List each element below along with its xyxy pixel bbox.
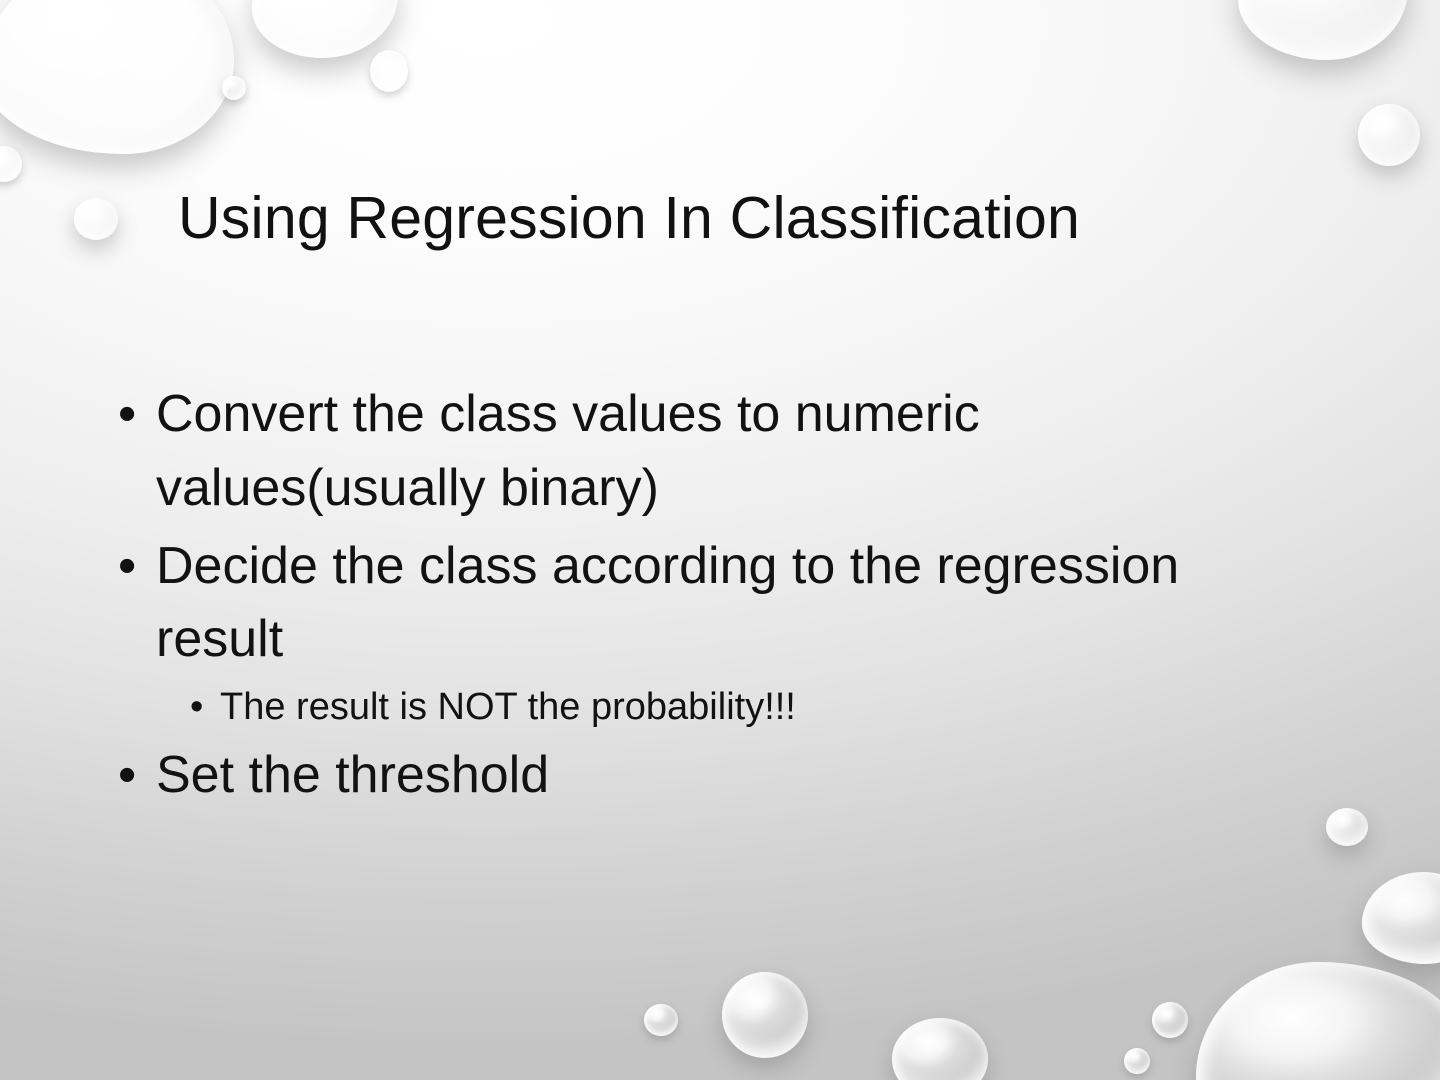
water-droplet-bottom-tiny [644, 1004, 678, 1036]
sub-bullet-item: • The result is NOT the probability!!! [118, 681, 1348, 735]
bullet-text: Set the threshold [156, 739, 1261, 813]
water-droplet-top-second [252, 0, 398, 58]
slide-title: Using Regression In Classification [178, 185, 1308, 251]
bullet-marker-icon: • [118, 739, 156, 813]
water-droplet-small-top [370, 50, 408, 92]
water-droplet-near-title [74, 198, 118, 240]
water-droplet-tiny-topleft [222, 76, 246, 100]
water-droplet-large-topleft [0, 0, 234, 154]
water-droplet-bottomright-tiny [1124, 1048, 1150, 1074]
bullet-marker-icon: • [118, 530, 156, 604]
water-droplet-bottom-right-of-center [892, 1018, 988, 1080]
slide-body-content: • Convert the class values to numeric va… [118, 378, 1348, 817]
bullet-item: • Set the threshold [118, 739, 1348, 813]
bullet-item: • Decide the class according to the regr… [118, 530, 1348, 678]
bullet-text: Decide the class according to the regres… [156, 530, 1261, 678]
sub-bullet-text: The result is NOT the probability!!! [220, 681, 1348, 735]
water-droplet-edge-left [0, 146, 22, 182]
bullet-text: Convert the class values to numeric valu… [156, 378, 1261, 526]
water-droplet-large-bottomright [1196, 962, 1440, 1080]
bullet-marker-icon: • [190, 681, 220, 735]
presentation-slide: Using Regression In Classification • Con… [0, 0, 1440, 1080]
bullet-item: • Convert the class values to numeric va… [118, 378, 1348, 526]
water-droplet-bottom-center [722, 972, 808, 1058]
water-droplet-right-lower [1362, 872, 1440, 964]
water-droplet-bottomright-small [1152, 1002, 1188, 1038]
water-droplet-topright [1238, 0, 1408, 60]
water-droplet-right-upper [1358, 104, 1420, 166]
bullet-marker-icon: • [118, 378, 156, 452]
